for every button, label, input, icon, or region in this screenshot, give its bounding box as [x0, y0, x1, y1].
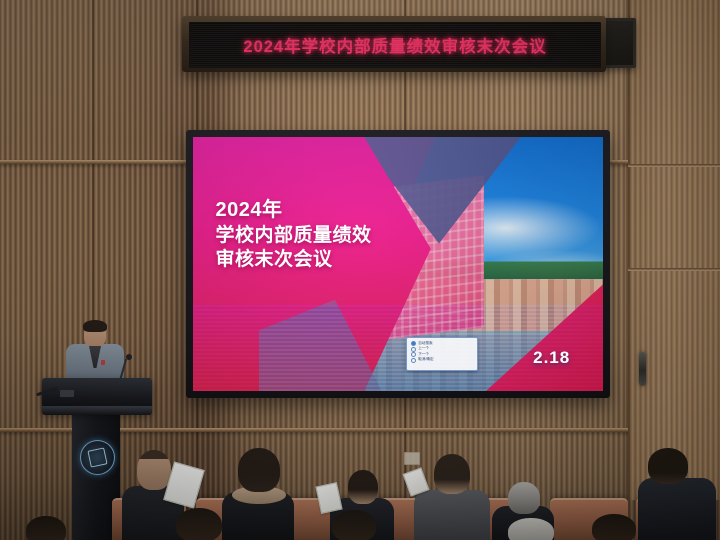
- side-door[interactable]: [628, 0, 720, 500]
- wall-outlet: [404, 452, 420, 465]
- led-banner: 2024年学校内部质量绩效审核末次会议: [182, 16, 606, 72]
- microphone-head-icon: [126, 354, 132, 360]
- door-groove-lower: [628, 268, 720, 271]
- podium-emblem-icon: [80, 440, 115, 475]
- radio-icon: [411, 352, 416, 357]
- podium-emblem-inner-icon: [87, 447, 107, 467]
- slide-title-line-1: 2024年: [216, 198, 372, 224]
- slide-title-line-2: 学校内部质量绩效: [216, 224, 372, 248]
- slide-title-line-3: 审核末次会议: [216, 248, 372, 272]
- presenter-lapel-badge: [101, 360, 105, 365]
- radio-icon: [411, 347, 416, 352]
- slide-date-text: 2.18: [533, 348, 570, 368]
- osd-menu-item-label: 取消/确定: [418, 357, 433, 363]
- presentation-slide: 江 苏 城 市 职 业 2024年 学校内部质量绩效 审核末次会议 2.18 自…: [193, 137, 603, 391]
- projection-screen: 江 苏 城 市 职 业 2024年 学校内部质量绩效 审核末次会议 2.18 自…: [186, 130, 610, 398]
- podium-control-panel[interactable]: [60, 390, 74, 397]
- radio-selected-icon: [411, 341, 416, 346]
- osd-menu-item[interactable]: 取消/确定: [411, 357, 473, 363]
- meeting-room-photo: 2024年学校内部质量绩效审核末次会议 江 苏 城 市 职 业 2024年 学校…: [0, 0, 720, 540]
- door-handle-icon[interactable]: [639, 352, 646, 386]
- led-banner-screen: 2024年学校内部质量绩效审核末次会议: [189, 22, 601, 68]
- slide-title-block: 2024年 学校内部质量绩效 审核末次会议: [216, 198, 372, 272]
- radio-icon: [411, 358, 416, 363]
- led-banner-text: 2024年学校内部质量绩效审核末次会议: [243, 33, 546, 57]
- projector-osd-menu[interactable]: 自动搜索 上一个 下一个 取消/确定: [406, 337, 478, 371]
- door-groove-upper: [628, 164, 720, 167]
- presenter-hair: [83, 320, 107, 332]
- podium-front-lip: [42, 406, 152, 415]
